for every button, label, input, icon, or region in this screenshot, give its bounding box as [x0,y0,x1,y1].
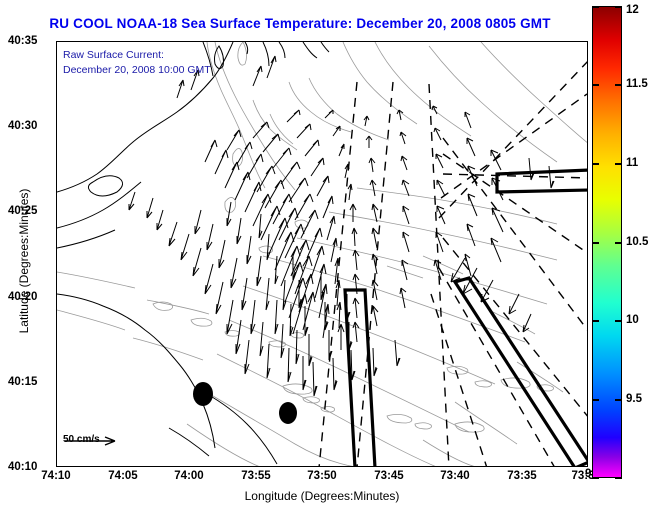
x-axis-title: Longitude (Degrees:Minutes) [56,489,588,503]
colorbar-tick [592,163,599,165]
colorbar-tick-label: 10.5 [626,236,648,248]
bathymetry-contours [57,42,588,467]
x-tick: 73:50 [307,470,336,482]
y-tick: 40:10 [8,461,37,473]
colorbar-tick [615,320,622,322]
coastline [57,42,329,464]
current-annotation: Raw Surface Current: December 20, 2008 1… [63,48,211,78]
current-annotation-line2: December 20, 2008 10:00 GMT [63,63,211,78]
x-tick: 74:10 [41,470,70,482]
colorbar-tick [615,84,622,86]
colorbar-tick-label: 10 [626,314,639,326]
x-tick: 73:35 [507,470,536,482]
radial-dashed-lines [319,60,588,467]
colorbar-tick [592,242,599,244]
shipping-channels [345,170,588,467]
colorbar-tick [592,399,599,401]
colorbar-tick [615,477,622,479]
station-marker [279,402,297,424]
colorbar-tick-label: 11 [626,157,638,169]
colorbar-tick [615,399,622,401]
x-tick: 73:55 [241,470,270,482]
y-tick: 40:30 [8,120,37,132]
right-arrow-icon [63,434,125,448]
vector-scale-legend: 50 cm/s [63,434,100,448]
surface-current-vectors [129,56,554,396]
colorbar-tick-label: 12 [626,4,639,16]
x-tick: 74:00 [174,470,203,482]
colorbar-tick [615,6,622,8]
x-tick: 74:05 [108,470,137,482]
colorbar-tick-label: 11.5 [626,78,648,90]
colorbar-tick [592,84,599,86]
figure-title: RU COOL NOAA-18 Sea Surface Temperature:… [0,16,600,31]
colorbar-tick [592,477,599,479]
x-tick: 73:45 [374,470,403,482]
colorbar-tick [592,320,599,322]
y-tick: 40:15 [8,376,37,388]
sst-map-figure: RU COOL NOAA-18 Sea Surface Temperature:… [0,0,660,519]
map-graphics [57,42,588,467]
y-axis-title: Latitude (Degrees:Minutes) [17,151,31,371]
station-marker [193,382,213,406]
colorbar-tick-label: 9.5 [626,393,642,405]
y-tick: 40:35 [8,35,37,47]
colorbar-tick-label: 9 [585,468,591,480]
colorbar-tick [615,163,622,165]
colorbar-tick [615,242,622,244]
colorbar-tick [592,6,599,8]
x-tick: 73:40 [440,470,469,482]
current-annotation-line1: Raw Surface Current: [63,48,211,63]
map-plot-area: Raw Surface Current: December 20, 2008 1… [56,41,588,467]
